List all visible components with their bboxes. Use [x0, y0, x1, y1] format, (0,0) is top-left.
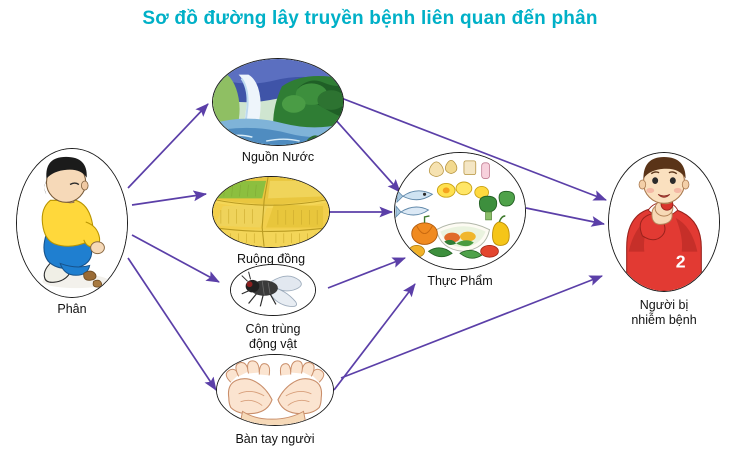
child-defecating-icon: [16, 148, 128, 298]
edge-food-to-person: [526, 208, 604, 224]
svg-text:2: 2: [676, 251, 686, 271]
node-phan[interactable]: Phân: [16, 148, 128, 298]
edge-phan-to-hands: [128, 258, 216, 390]
water-source-icon: [212, 58, 344, 146]
node-field[interactable]: Ruộng đồng: [212, 176, 330, 248]
node-phan-label: Phân: [12, 302, 132, 317]
diagram-canvas: Sơ đồ đường lây truyền bệnh liên quan đế…: [0, 0, 740, 463]
human-hands-icon: [216, 354, 334, 426]
node-water-label: Nguồn Nước: [208, 150, 348, 165]
edge-phan-to-water: [128, 104, 208, 188]
infected-person-icon: 2: [608, 152, 720, 292]
node-water[interactable]: Nguồn Nước: [212, 58, 344, 146]
node-food-label: Thực Phẩm: [390, 274, 530, 289]
edge-hands-to-food: [334, 284, 415, 390]
node-hands[interactable]: Bàn tay người: [216, 354, 334, 426]
node-insect[interactable]: Côn trùng động vật: [230, 264, 316, 316]
food-plate-icon: [394, 152, 526, 270]
edge-hands-to-person: [341, 276, 602, 378]
node-insect-label: Côn trùng động vật: [214, 322, 332, 353]
node-hands-label: Bàn tay người: [210, 432, 340, 447]
node-person[interactable]: 2: [608, 152, 720, 292]
node-person-label: Người bị nhiễm bệnh: [602, 298, 726, 329]
node-food[interactable]: Thực Phẩm: [394, 152, 526, 270]
edge-phan-to-field: [132, 194, 206, 205]
fly-insect-icon: [230, 264, 316, 316]
rice-fields-icon: [212, 176, 330, 248]
